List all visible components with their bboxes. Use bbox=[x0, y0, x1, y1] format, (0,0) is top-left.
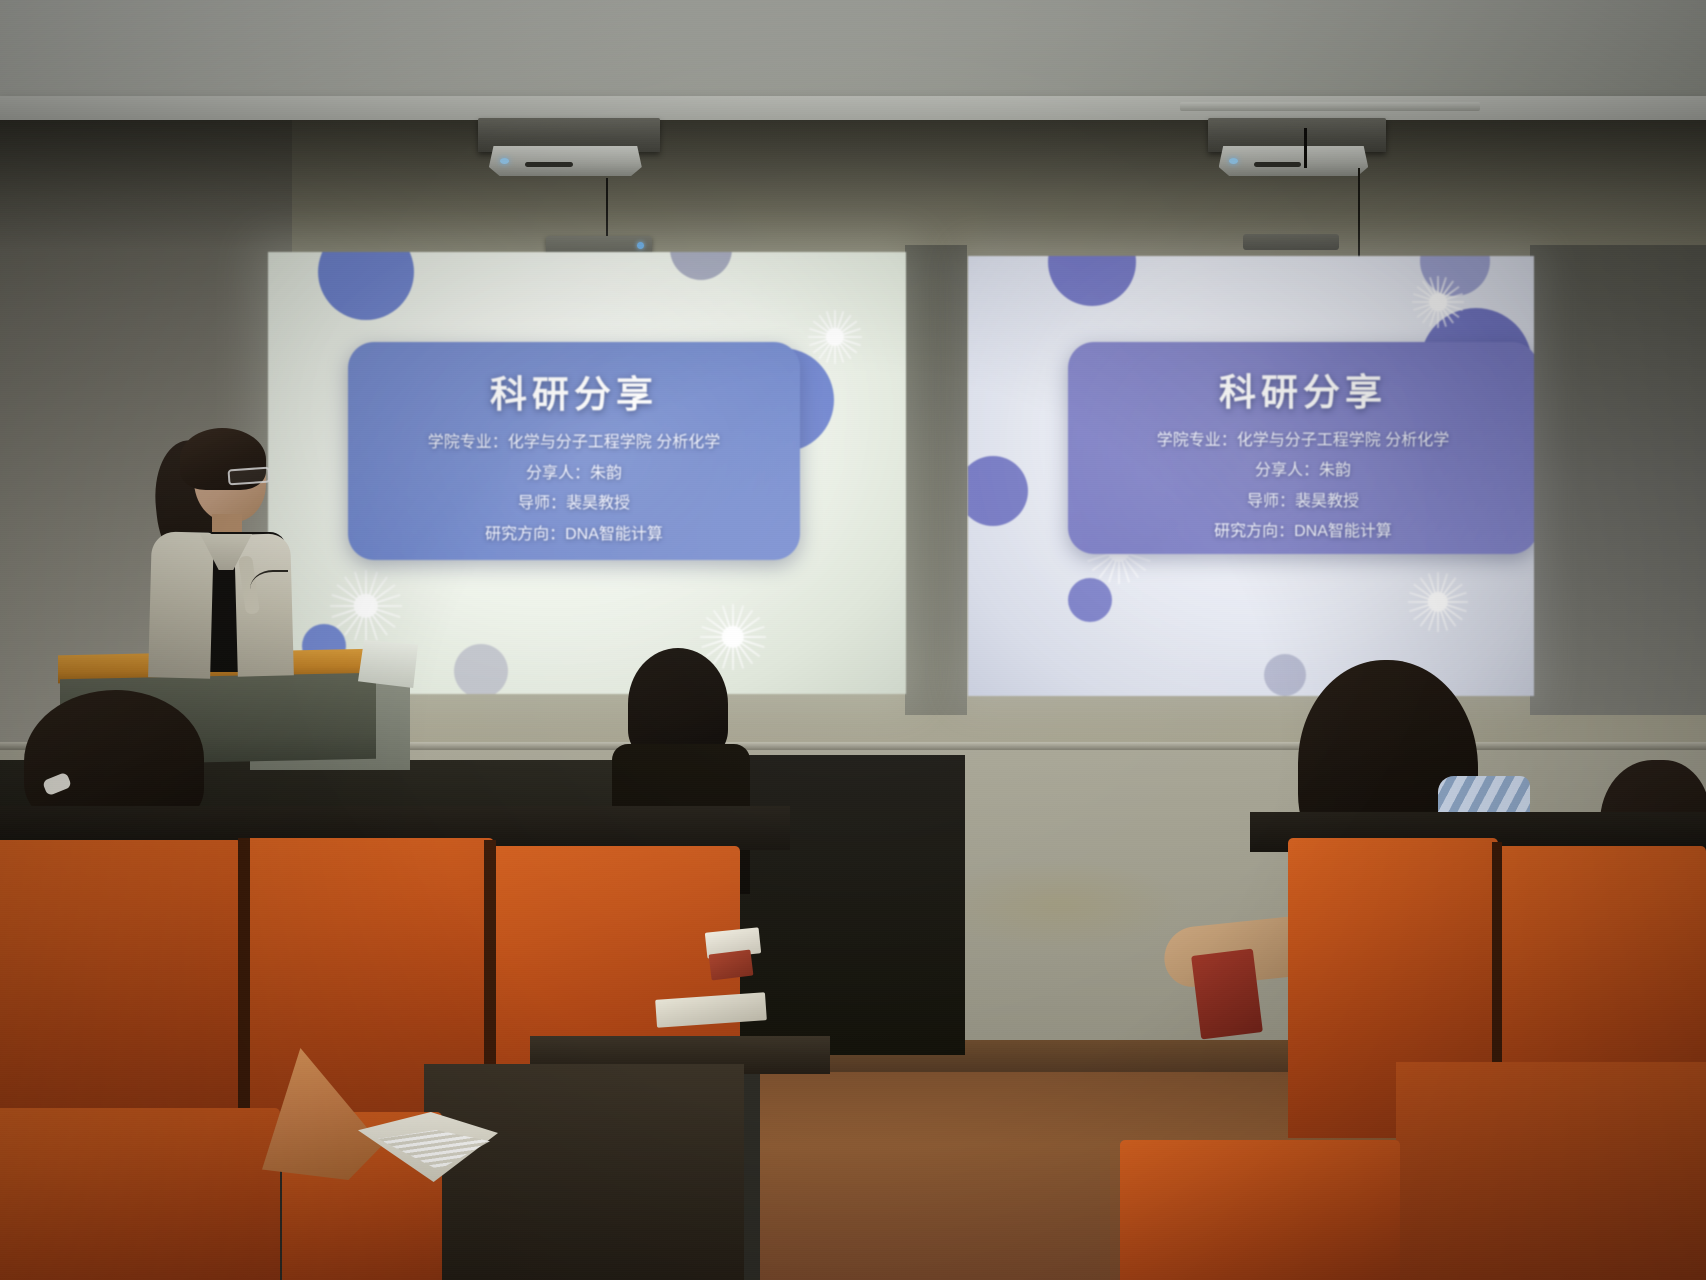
glasses-icon bbox=[227, 467, 270, 486]
screen-glow bbox=[968, 256, 1534, 696]
wall-right-edge bbox=[1530, 245, 1706, 715]
wall-shadow bbox=[0, 120, 1706, 250]
screen-canvas: 科研分享 学院专业：化学与分子工程学院 分析化学 分享人：朱韵 导师：裴昊教授 … bbox=[968, 256, 1534, 696]
presenter bbox=[150, 428, 310, 668]
projector-led-icon bbox=[500, 158, 509, 164]
red-notebook bbox=[1191, 949, 1263, 1040]
screen-canvas: 科研分享 学院专业：化学与分子工程学院 分析化学 分享人：朱韵 导师：裴昊教授 … bbox=[268, 252, 906, 694]
lecture-hall-photo: 科研分享 学院专业：化学与分子工程学院 分析化学 分享人：朱韵 导师：裴昊教授 … bbox=[0, 0, 1706, 1280]
desk-row-front-3 bbox=[1396, 1062, 1706, 1280]
seat bbox=[0, 840, 242, 1140]
projector-body bbox=[489, 146, 642, 176]
left-projection-screen: 科研分享 学院专业：化学与分子工程学院 分析化学 分享人：朱韵 导师：裴昊教授 … bbox=[268, 252, 906, 694]
seat bbox=[0, 1108, 280, 1280]
projector-lens bbox=[1254, 162, 1300, 167]
right-projection-screen: 科研分享 学院专业：化学与分子工程学院 分析化学 分享人：朱韵 导师：裴昊教授 … bbox=[968, 256, 1534, 696]
presenter-cardigan-left bbox=[148, 531, 214, 679]
speaker-led-icon bbox=[637, 242, 644, 249]
presenter-cardigan-right bbox=[234, 533, 294, 676]
presenter-laptop bbox=[358, 640, 418, 688]
projector-lens bbox=[525, 162, 572, 167]
seat-seam bbox=[238, 838, 250, 1140]
wall-pillar bbox=[905, 245, 967, 715]
screen-glow bbox=[268, 252, 906, 694]
desk-row-front-2 bbox=[424, 1064, 744, 1280]
wall-stain bbox=[940, 860, 1180, 950]
ceiling-rail bbox=[1180, 102, 1480, 111]
microphone-icon bbox=[250, 570, 288, 602]
red-booklet bbox=[709, 950, 754, 981]
seat bbox=[1120, 1140, 1400, 1280]
wall-speaker-right bbox=[1243, 234, 1339, 250]
